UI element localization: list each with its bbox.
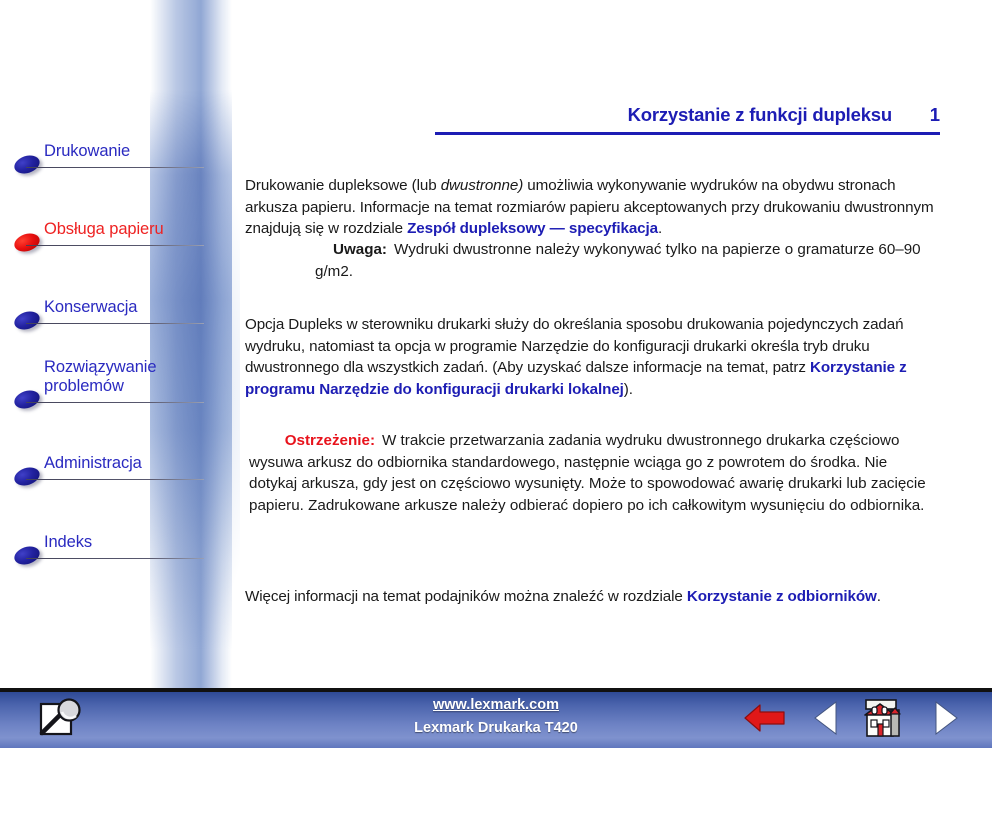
sidebar-item-indeks[interactable]: Indeks [14, 519, 218, 559]
outro-text-1: Więcej informacji na temat podajników mo… [245, 588, 687, 605]
sidebar-item-label: Konserwacja [44, 298, 137, 317]
page-header: Korzystanie z funkcji dupleksu 1 [435, 104, 940, 135]
paragraph-intro: Drukowanie dupleksowe (lub dwustronne) u… [245, 175, 945, 240]
nav-rule [26, 558, 204, 559]
lexmark-website-link[interactable]: www.lexmark.com [433, 697, 559, 713]
warning-label: Ostrzeżenie: [249, 430, 375, 452]
sidebar-item-label: Administracja [44, 454, 142, 473]
sidebar-item-administracja[interactable]: Administracja [14, 440, 218, 480]
bullet-icon [12, 543, 42, 567]
page-number: 1 [926, 104, 940, 126]
link-zespol-dupleksowy[interactable]: Zespół dupleksowy — specyfikacja [407, 220, 658, 237]
header-divider [435, 132, 940, 135]
document-page: Drukowanie Obsługa papieru Konserwacja R… [0, 0, 992, 826]
page-title: Korzystanie z funkcji dupleksu [628, 104, 892, 126]
red-back-arrow-icon[interactable] [742, 696, 790, 740]
dupleks-text-1: Opcja Dupleks w sterowniku drukarki służ… [245, 316, 903, 376]
sidebar-item-label: Rozwiązywanie problemów [44, 358, 194, 396]
nav-rule [26, 245, 204, 246]
intro-emphasis: dwustronne) [441, 177, 523, 194]
bullet-icon [12, 230, 42, 254]
next-page-icon[interactable] [928, 696, 962, 740]
nav-rule [26, 479, 204, 480]
bullet-icon [12, 387, 42, 411]
bullet-icon [12, 464, 42, 488]
note-label: Uwaga: [315, 239, 387, 261]
nav-rule [26, 402, 204, 403]
nav-rule [26, 167, 204, 168]
bullet-icon [12, 308, 42, 332]
intro-text-3: . [658, 220, 662, 237]
home-house-icon[interactable] [860, 696, 906, 742]
paragraph-outro: Więcej informacji na temat podajników mo… [245, 586, 945, 608]
sidebar-item-rozwiazywanie-problemow[interactable]: Rozwiązywanie problemów [14, 341, 218, 403]
previous-page-icon[interactable] [810, 696, 844, 740]
sidebar-item-konserwacja[interactable]: Konserwacja [14, 284, 218, 324]
nav-rule [26, 323, 204, 324]
intro-text-1: Drukowanie dupleksowe (lub [245, 177, 441, 194]
sidebar-item-label: Obsługa papieru [44, 220, 164, 239]
warning-block: Ostrzeżenie: W trakcie przetwarzania zad… [249, 430, 929, 516]
note-block: Uwaga: Wydruki dwustronne należy wykonyw… [315, 239, 945, 282]
outro-text-2: . [877, 588, 881, 605]
footer-toolbar: www.lexmark.com Lexmark Drukarka T420 [0, 688, 992, 748]
paragraph-dupleks: Opcja Dupleks w sterowniku drukarki służ… [245, 314, 945, 400]
sidebar-item-obsluga-papieru[interactable]: Obsługa papieru [14, 206, 218, 246]
bullet-icon [12, 152, 42, 176]
dupleks-text-2: ). [624, 381, 633, 398]
link-korzystanie-z-odbiornikow[interactable]: Korzystanie z odbiorników [687, 588, 877, 605]
sidebar-item-label: Drukowanie [44, 142, 130, 161]
note-body: Wydruki dwustronne należy wykonywać tylk… [315, 241, 921, 280]
main-content: Korzystanie z funkcji dupleksu 1 Drukowa… [245, 0, 945, 690]
sidebar-item-drukowanie[interactable]: Drukowanie [14, 128, 218, 168]
sidebar-navigation: Drukowanie Obsługa papieru Konserwacja R… [0, 0, 232, 690]
sidebar-item-label: Indeks [44, 533, 92, 552]
